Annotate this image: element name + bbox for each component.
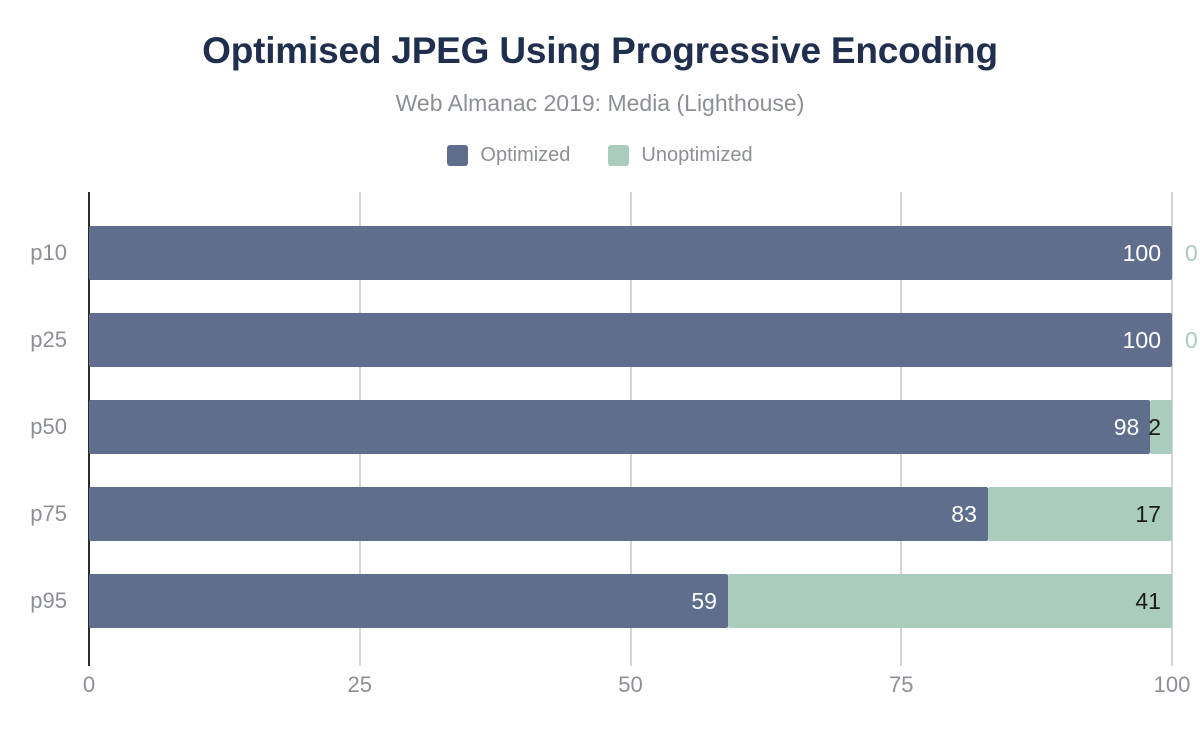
chart-legend: Optimized Unoptimized	[0, 144, 1200, 167]
y-tick-label-p75: p75	[0, 487, 67, 541]
bar-segment-p50-optimized[interactable]: 98	[89, 400, 1150, 454]
bar-row-p25: 1000	[89, 313, 1172, 367]
bar-segment-p75-optimized[interactable]: 83	[89, 487, 988, 541]
y-tick-label-p25: p25	[0, 313, 67, 367]
legend-swatch-unoptimized	[608, 145, 629, 166]
x-tick-label-25: 25	[348, 672, 372, 698]
chart-title: Optimised JPEG Using Progressive Encodin…	[0, 30, 1200, 72]
bar-segment-p50-unoptimized[interactable]: 2	[1150, 400, 1172, 454]
legend-item-unoptimized[interactable]: Unoptimized	[608, 144, 752, 167]
legend-swatch-optimized	[447, 145, 468, 166]
bar-segment-p95-optimized[interactable]: 59	[89, 574, 728, 628]
bar-segment-p10-optimized[interactable]: 100	[89, 226, 1172, 280]
bar-value-p95-unoptimized: 41	[1135, 588, 1172, 615]
bar-value-p95-optimized: 59	[691, 588, 728, 615]
x-tick-label-75: 75	[889, 672, 913, 698]
y-tick-label-p95: p95	[0, 574, 67, 628]
bar-row-p50: 982	[89, 400, 1172, 454]
bar-value-p25-unoptimized: 0	[1172, 327, 1198, 354]
bar-row-p95: 5941	[89, 574, 1172, 628]
tick-mark-x-0	[88, 635, 90, 666]
tick-mark-x-75	[900, 635, 902, 666]
chart-container: Optimised JPEG Using Progressive Encodin…	[0, 0, 1200, 742]
bar-value-p50-optimized: 98	[1114, 414, 1151, 441]
tick-mark-x-100	[1171, 635, 1173, 666]
bar-segment-p75-unoptimized[interactable]: 17	[988, 487, 1172, 541]
legend-item-optimized[interactable]: Optimized	[447, 144, 570, 167]
x-tick-label-100: 100	[1154, 672, 1191, 698]
bar-value-p50-unoptimized: 2	[1148, 414, 1172, 441]
bar-value-p75-optimized: 83	[951, 501, 988, 528]
y-tick-label-p50: p50	[0, 400, 67, 454]
bar-value-p25-optimized: 100	[1123, 327, 1172, 354]
legend-label-optimized: Optimized	[480, 144, 570, 167]
tick-mark-x-25	[359, 635, 361, 666]
bar-row-p75: 8317	[89, 487, 1172, 541]
plot-area: 1000100098283175941	[89, 192, 1172, 635]
legend-label-unoptimized: Unoptimized	[641, 144, 752, 167]
chart-subtitle: Web Almanac 2019: Media (Lighthouse)	[0, 90, 1200, 117]
bar-value-p10-optimized: 100	[1123, 240, 1172, 267]
bar-value-p75-unoptimized: 17	[1135, 501, 1172, 528]
bar-segment-p25-optimized[interactable]: 100	[89, 313, 1172, 367]
x-tick-label-50: 50	[618, 672, 642, 698]
bar-value-p10-unoptimized: 0	[1172, 240, 1198, 267]
y-tick-label-p10: p10	[0, 226, 67, 280]
x-tick-label-0: 0	[83, 672, 95, 698]
bar-row-p10: 1000	[89, 226, 1172, 280]
tick-mark-x-50	[630, 635, 632, 666]
bar-segment-p95-unoptimized[interactable]: 41	[728, 574, 1172, 628]
